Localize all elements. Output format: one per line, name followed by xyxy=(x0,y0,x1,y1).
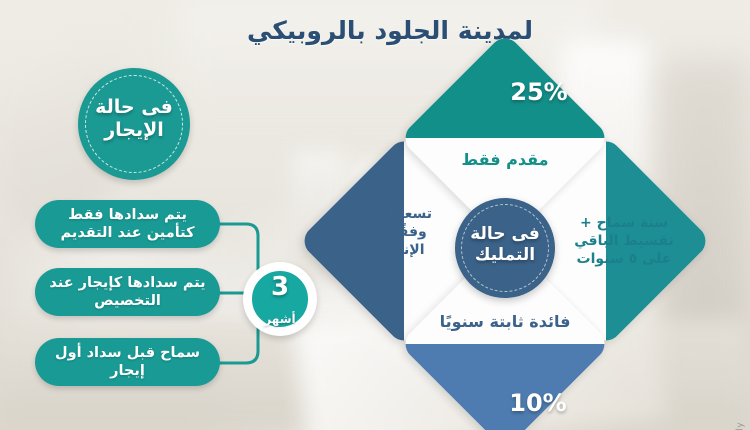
rental-item-3-label: سماح قبل سداد أول إيجار xyxy=(47,344,208,380)
grace-period-badge: 3 أشهر xyxy=(243,262,317,336)
downpayment-percent: 25% xyxy=(504,78,574,106)
interest-percent: 10% xyxy=(500,389,576,417)
grace-period-value: 3 xyxy=(243,274,317,300)
rental-item-2-label: يتم سدادها كإيجار عند التخصيص xyxy=(47,274,208,310)
designer-credit: تصميم : Sahar Adly xyxy=(736,422,746,430)
page-title: لمدينة الجلود بالروبيكي xyxy=(180,16,600,45)
ownership-badge-label: فى حالة التمليك xyxy=(455,224,555,267)
rental-badge-label: فى حالة الإيجار xyxy=(78,96,190,142)
grace-period-unit: أشهر xyxy=(243,312,317,326)
infographic-canvas: مزايا وتسهيلات الحجز لمدينة الجلود بالرو… xyxy=(0,0,750,430)
ownership-case-badge: فى حالة التمليك xyxy=(455,198,555,298)
rental-item-1-label: يتم سدادها فقط كتأمين عند التقديم xyxy=(47,206,208,242)
rental-item-2[interactable]: يتم سدادها كإيجار عند التخصيص xyxy=(35,268,220,316)
rental-item-3[interactable]: سماح قبل سداد أول إيجار xyxy=(35,338,220,386)
rental-item-1[interactable]: يتم سدادها فقط كتأمين عند التقديم xyxy=(35,200,220,248)
rental-case-badge: فى حالة الإيجار xyxy=(78,68,190,180)
